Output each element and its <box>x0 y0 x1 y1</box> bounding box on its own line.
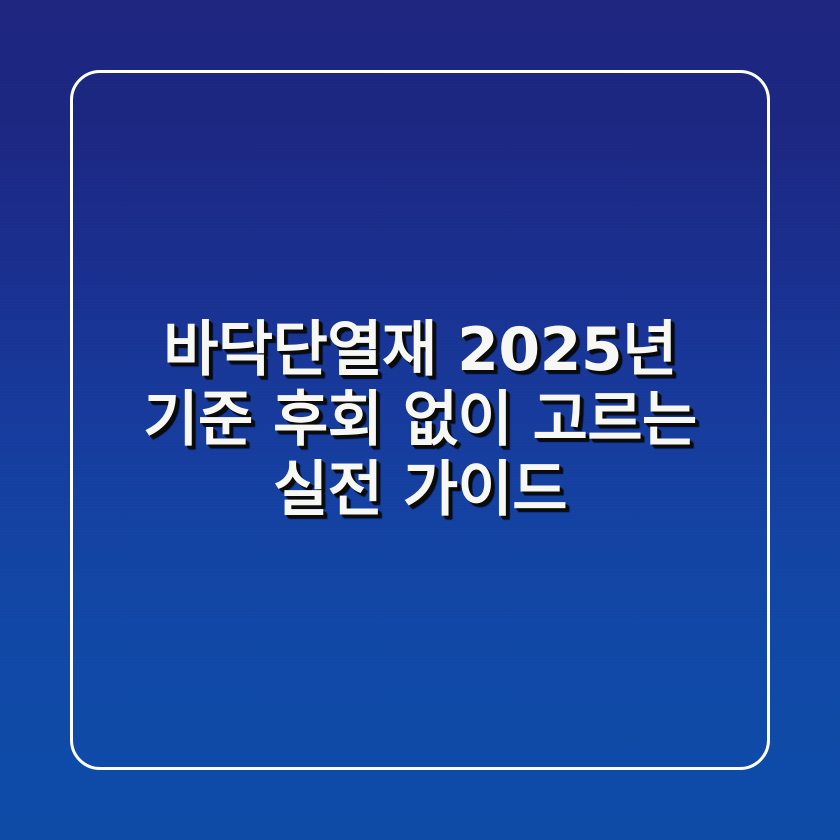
title-line-3: 실전 가이드 <box>90 455 750 525</box>
page-title: 바닥단열재 2025년 기준 후회 없이 고르는 실전 가이드 <box>90 315 750 525</box>
title-line-2: 기준 후회 없이 고르는 <box>90 385 750 455</box>
title-line-1: 바닥단열재 2025년 <box>90 315 750 385</box>
promo-card: 바닥단열재 2025년 기준 후회 없이 고르는 실전 가이드 <box>0 0 840 840</box>
